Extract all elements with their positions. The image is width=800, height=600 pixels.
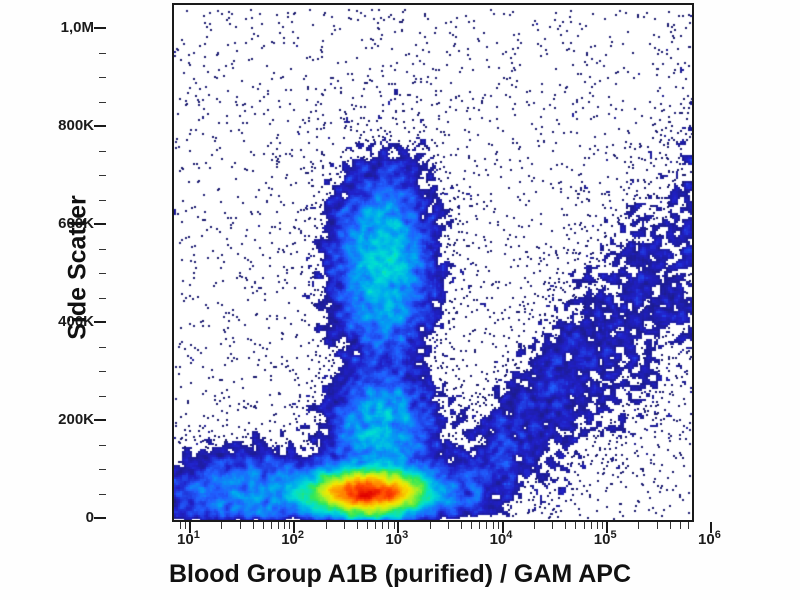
- x-tick-label: 105: [594, 532, 617, 547]
- x-tick-minor: [180, 522, 181, 529]
- x-tick-minor: [602, 522, 603, 529]
- x-tick-minor: [344, 522, 345, 529]
- y-tick-label: 800K: [58, 118, 94, 133]
- y-tick-minor: [99, 175, 106, 176]
- y-tick-minor: [99, 53, 106, 54]
- x-tick-minor: [471, 522, 472, 529]
- x-tick-minor: [493, 522, 494, 529]
- x-tick-label-base: 10: [177, 531, 194, 548]
- x-tick-label: 103: [385, 532, 408, 547]
- x-tick-minor: [638, 522, 639, 529]
- x-tick-minor: [284, 522, 285, 529]
- y-tick-minor: [99, 151, 106, 152]
- y-tick-minor: [99, 102, 106, 103]
- x-tick-minor: [185, 522, 186, 529]
- x-tick-minor: [375, 522, 376, 529]
- y-tick-minor: [99, 445, 106, 446]
- scatter-plot-area[interactable]: [172, 3, 694, 522]
- x-tick-minor: [534, 522, 535, 529]
- x-tick-label-exponent: 2: [298, 529, 304, 541]
- y-tick-label: 1,0M: [61, 20, 94, 35]
- y-tick-minor: [99, 494, 106, 495]
- x-tick-minor: [584, 522, 585, 529]
- x-tick-label: 104: [490, 532, 513, 547]
- x-tick-minor: [479, 522, 480, 529]
- y-tick-major: [94, 125, 106, 127]
- y-tick-minor: [99, 77, 106, 78]
- x-tick-minor: [388, 522, 389, 529]
- x-tick-minor: [326, 522, 327, 529]
- flow-cytometry-figure: 0200K400K600K800K1,0M 101102103104105106…: [0, 0, 800, 600]
- x-tick-label-exponent: 4: [506, 529, 512, 541]
- x-tick-label: 106: [698, 532, 721, 547]
- x-tick-minor: [367, 522, 368, 529]
- x-tick-label: 101: [177, 532, 200, 547]
- x-tick-label-exponent: 6: [715, 529, 721, 541]
- x-tick-minor: [565, 522, 566, 529]
- x-tick-label: 102: [281, 532, 304, 547]
- x-tick-minor: [575, 522, 576, 529]
- x-tick-label-exponent: 5: [610, 529, 616, 541]
- x-tick-minor: [394, 522, 395, 529]
- x-tick-minor: [486, 522, 487, 529]
- x-tick-label-base: 10: [385, 531, 402, 548]
- x-tick-minor: [382, 522, 383, 529]
- x-tick-label-exponent: 3: [402, 529, 408, 541]
- y-tick-label: 0: [86, 510, 94, 525]
- y-tick-minor: [99, 469, 106, 470]
- x-axis-title: Blood Group A1B (purified) / GAM APC: [0, 560, 800, 589]
- x-tick-minor: [289, 522, 290, 529]
- x-tick-minor: [591, 522, 592, 529]
- x-tick-minor: [498, 522, 499, 529]
- y-tick-major: [94, 517, 106, 519]
- x-tick-minor: [430, 522, 431, 529]
- y-tick-minor: [99, 298, 106, 299]
- y-tick-label: 200K: [58, 412, 94, 427]
- y-tick-minor: [99, 396, 106, 397]
- x-tick-minor: [263, 522, 264, 529]
- x-tick-minor: [688, 522, 689, 529]
- y-tick-major: [94, 321, 106, 323]
- x-tick-minor: [357, 522, 358, 529]
- y-tick-minor: [99, 347, 106, 348]
- x-tick-minor: [221, 522, 222, 529]
- x-tick-minor: [597, 522, 598, 529]
- x-tick-minor: [253, 522, 254, 529]
- x-tick-minor: [240, 522, 241, 529]
- y-tick-minor: [99, 249, 106, 250]
- x-tick-label-base: 10: [698, 531, 715, 548]
- x-tick-label-base: 10: [490, 531, 507, 548]
- x-tick-minor: [278, 522, 279, 529]
- x-tick-minor: [657, 522, 658, 529]
- scatter-density-canvas: [174, 5, 692, 520]
- x-tick-label-base: 10: [281, 531, 298, 548]
- x-tick-minor: [680, 522, 681, 529]
- y-tick-minor: [99, 371, 106, 372]
- x-tick-minor: [448, 522, 449, 529]
- y-tick-minor: [99, 200, 106, 201]
- x-tick-minor: [670, 522, 671, 529]
- x-tick-minor: [271, 522, 272, 529]
- x-tick-minor: [461, 522, 462, 529]
- x-tick-label-exponent: 1: [194, 529, 200, 541]
- y-tick-major: [94, 27, 106, 29]
- x-tick-label-base: 10: [594, 531, 611, 548]
- y-tick-major: [94, 419, 106, 421]
- y-tick-major: [94, 223, 106, 225]
- y-tick-minor: [99, 273, 106, 274]
- x-tick-minor: [552, 522, 553, 529]
- y-axis-title: Side Scatter: [64, 138, 93, 398]
